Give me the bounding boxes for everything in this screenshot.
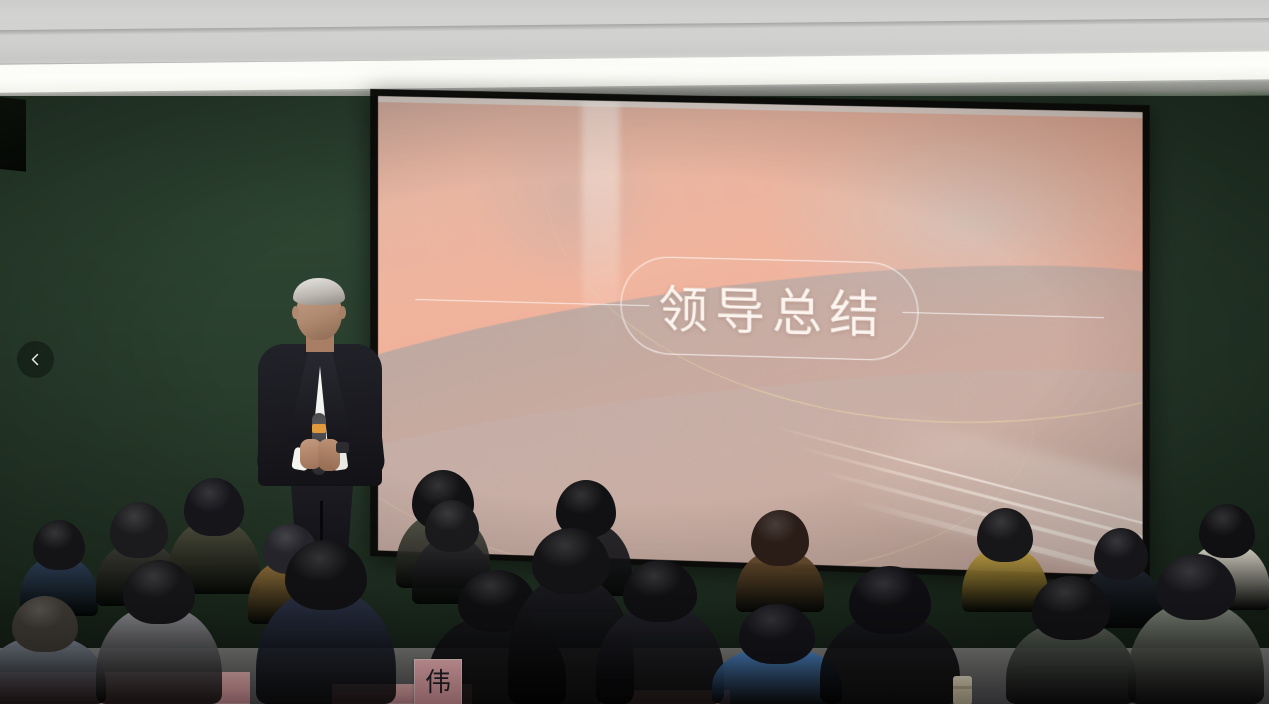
audience-head bbox=[12, 596, 78, 652]
name-placard: 伟 bbox=[414, 659, 462, 704]
presenter-ear-left bbox=[292, 306, 299, 319]
audience-head bbox=[1032, 576, 1110, 640]
audience-member bbox=[736, 510, 824, 612]
audience-head bbox=[33, 520, 85, 570]
microphone-band bbox=[312, 424, 326, 433]
slide-canvas: 领导总结 bbox=[378, 96, 1143, 576]
slide-title-pill: 领导总结 bbox=[620, 256, 918, 362]
name-placard-text: 伟 bbox=[425, 670, 451, 696]
slide-title: 领导总结 bbox=[651, 270, 886, 348]
audience-head bbox=[623, 560, 697, 622]
audience-member bbox=[0, 596, 106, 704]
audience-head bbox=[285, 540, 367, 610]
wall-fixture bbox=[0, 96, 26, 172]
presenter-ear-right bbox=[339, 306, 346, 319]
water-bottle-ring bbox=[953, 686, 972, 689]
audience-head bbox=[1199, 504, 1255, 558]
screenshot-root: 领导总结 bbox=[0, 0, 1269, 704]
presenter-watch bbox=[336, 442, 349, 453]
audience-member bbox=[820, 566, 960, 704]
audience-member bbox=[1006, 576, 1136, 704]
prev-button[interactable] bbox=[17, 341, 54, 378]
audience-head bbox=[751, 510, 809, 566]
audience-head bbox=[739, 604, 815, 664]
water-bottle bbox=[953, 676, 972, 704]
presenter bbox=[252, 276, 388, 566]
audience-head bbox=[425, 500, 479, 552]
presenter-belt bbox=[294, 476, 348, 484]
audience-head bbox=[1156, 554, 1236, 620]
audience-member bbox=[1128, 554, 1264, 704]
chevron-left-icon bbox=[28, 352, 43, 367]
audience-member bbox=[256, 540, 396, 704]
presenter-hair bbox=[293, 278, 345, 305]
audience-head bbox=[849, 566, 931, 634]
audience-head bbox=[123, 560, 195, 624]
audience-head bbox=[977, 508, 1033, 562]
audience-head bbox=[184, 478, 244, 536]
audience-member bbox=[96, 560, 222, 704]
audience-member bbox=[596, 560, 724, 704]
audience-head bbox=[110, 502, 168, 558]
